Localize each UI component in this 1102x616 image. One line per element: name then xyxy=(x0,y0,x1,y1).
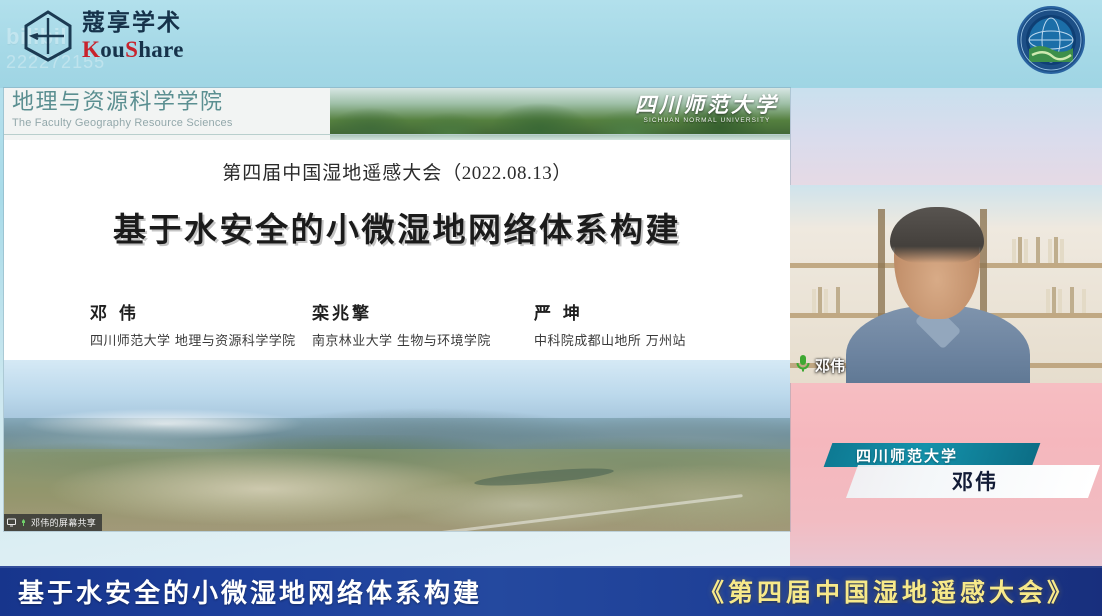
pin-icon xyxy=(19,518,28,527)
slide-body: 第四届中国湿地遥感大会（2022.08.13） 基于水安全的小微湿地网络体系构建… xyxy=(4,140,790,349)
author-entry: 栾兆擎 南京林业大学 生物与环境学院 xyxy=(312,299,534,349)
koushare-name-cn: 蔻享学术 xyxy=(82,10,182,36)
author-name: 严 坤 xyxy=(534,299,756,324)
screen-share-label-text: 邓伟的屏幕共享 xyxy=(31,516,96,529)
monitor-icon xyxy=(7,518,16,527)
participant-name-text: 邓伟 xyxy=(815,355,845,376)
screen-share-label: 邓伟的屏幕共享 xyxy=(4,514,102,531)
koushare-k: K xyxy=(82,37,100,62)
author-entry: 邓 伟 四川师范大学 地理与资源科学学院 xyxy=(90,299,312,349)
bookshelf-books xyxy=(1006,235,1064,263)
authors-list: 邓 伟 四川师范大学 地理与资源科学学院 栾兆擎 南京林业大学 生物与环境学院 … xyxy=(4,299,790,349)
author-affiliation: 南京林业大学 生物与环境学院 xyxy=(312,330,534,349)
koushare-wordmark: 蔻享学术 KouShare xyxy=(82,12,184,61)
koushare-diamond-icon xyxy=(22,8,74,64)
koushare-ou: ou xyxy=(100,37,125,62)
university-logo: 四川师范大学 SICHUAN NORMAL UNIVERSITY xyxy=(632,94,782,134)
microphone-icon xyxy=(794,353,812,378)
author-name: 栾兆擎 xyxy=(312,299,534,324)
faculty-name-cn: 地理与资源科学学院 xyxy=(12,90,233,116)
koushare-hare: hare xyxy=(138,37,184,62)
participant-name-tag: 邓伟 xyxy=(794,353,845,378)
bottom-title-bar: 基于水安全的小微湿地网络体系构建 《第四届中国湿地遥感大会》 xyxy=(0,566,1102,616)
aerial-landscape-photo xyxy=(4,360,790,531)
slide-header: 四川师范大学 SICHUAN NORMAL UNIVERSITY 地理与资源科学… xyxy=(4,88,790,140)
slide-title: 基于水安全的小微湿地网络体系构建 xyxy=(4,203,790,251)
koushare-s: S xyxy=(125,37,138,62)
faculty-name-en: The Faculty Geography Resource Sciences xyxy=(12,117,233,129)
screen-root: bilibili 222272155 蔻享学术 KouShare xyxy=(0,0,1102,616)
lower-third-banner: 四川师范大学 邓伟 xyxy=(800,443,1098,505)
lower-third-organization: 四川师范大学 xyxy=(856,445,1036,467)
bottom-bar-conference: 《第四届中国湿地遥感大会》 xyxy=(699,573,1076,609)
bottom-bar-talk-title: 基于水安全的小微湿地网络体系构建 xyxy=(18,573,482,610)
participant-video-tile[interactable]: 邓伟 xyxy=(790,185,1102,383)
shared-slide[interactable]: 四川师范大学 SICHUAN NORMAL UNIVERSITY 地理与资源科学… xyxy=(4,88,790,531)
university-name-en: SICHUAN NORMAL UNIVERSITY xyxy=(632,117,782,124)
photo-valley xyxy=(4,449,790,531)
faculty-block: 地理与资源科学学院 The Faculty Geography Resource… xyxy=(12,90,233,129)
conference-line: 第四届中国湿地遥感大会（2022.08.13） xyxy=(4,158,790,185)
koushare-name-en: KouShare xyxy=(82,38,184,61)
conference-date: （2022.08.13） xyxy=(442,163,572,184)
author-affiliation: 中科院成都山地所 万州站 xyxy=(534,330,756,349)
author-entry: 严 坤 中科院成都山地所 万州站 xyxy=(534,299,756,349)
bookshelf-books xyxy=(806,285,840,313)
university-name-cn: 四川师范大学 xyxy=(632,94,782,116)
author-affiliation: 四川师范大学 地理与资源科学学院 xyxy=(90,330,312,349)
bookshelf-books xyxy=(1040,285,1086,313)
conference-name: 第四届中国湿地遥感大会 xyxy=(222,162,442,184)
lower-third-speaker: 邓伟 xyxy=(952,467,1092,497)
koushare-logo: 蔻享学术 KouShare xyxy=(22,8,184,64)
header-divider xyxy=(4,134,790,135)
wetland-conference-emblem-icon xyxy=(1016,5,1086,75)
author-name: 邓 伟 xyxy=(90,299,312,324)
